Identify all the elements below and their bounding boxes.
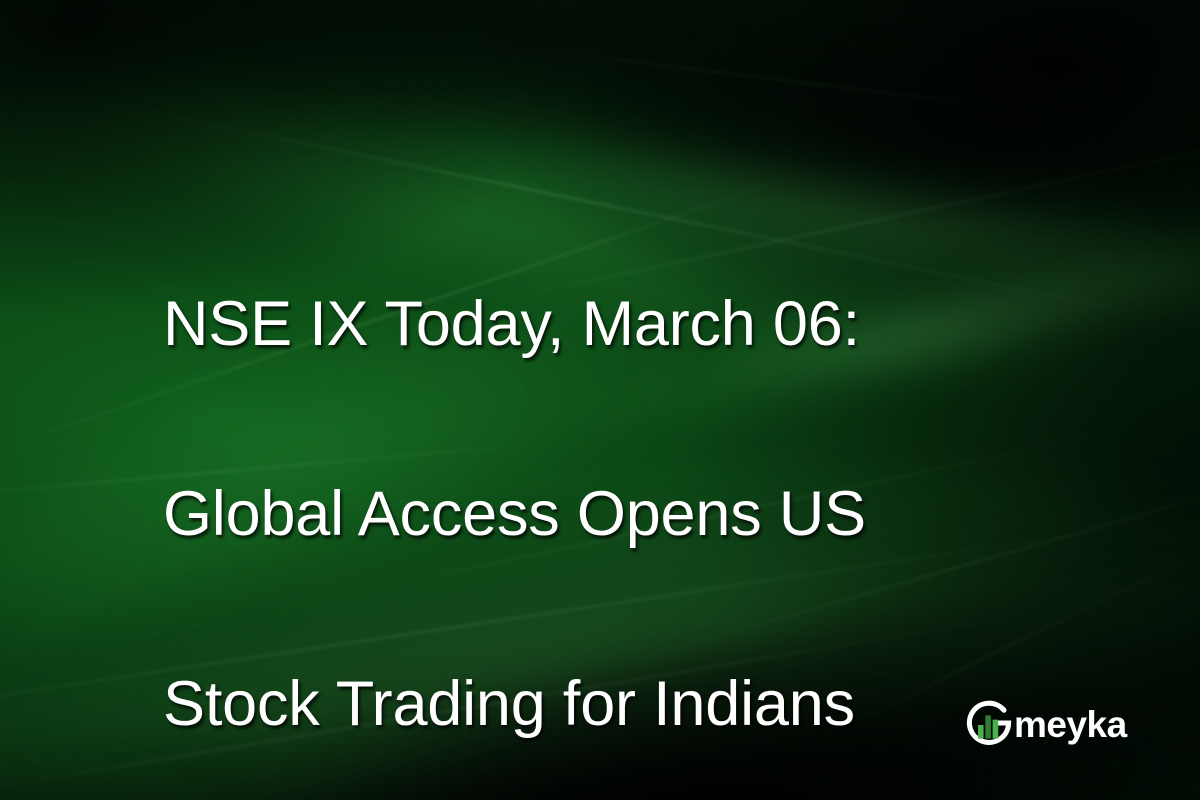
brand-wordmark: meyka	[1014, 706, 1127, 743]
banner-canvas: NSE IX Today, March 06: Global Access Op…	[0, 0, 1200, 800]
banner-headline: NSE IX Today, March 06: Global Access Op…	[163, 182, 1083, 800]
headline-line-2: Global Access Opens US	[163, 467, 1083, 562]
meyka-ring-bar-chart-logo-icon	[963, 697, 1015, 749]
headline-line-3: Stock Trading for Indians	[163, 657, 1083, 752]
light-streak-4	[522, 47, 1157, 127]
brand-logo[interactable]: meyka	[963, 697, 1127, 749]
headline-line-1: NSE IX Today, March 06:	[163, 277, 1083, 372]
